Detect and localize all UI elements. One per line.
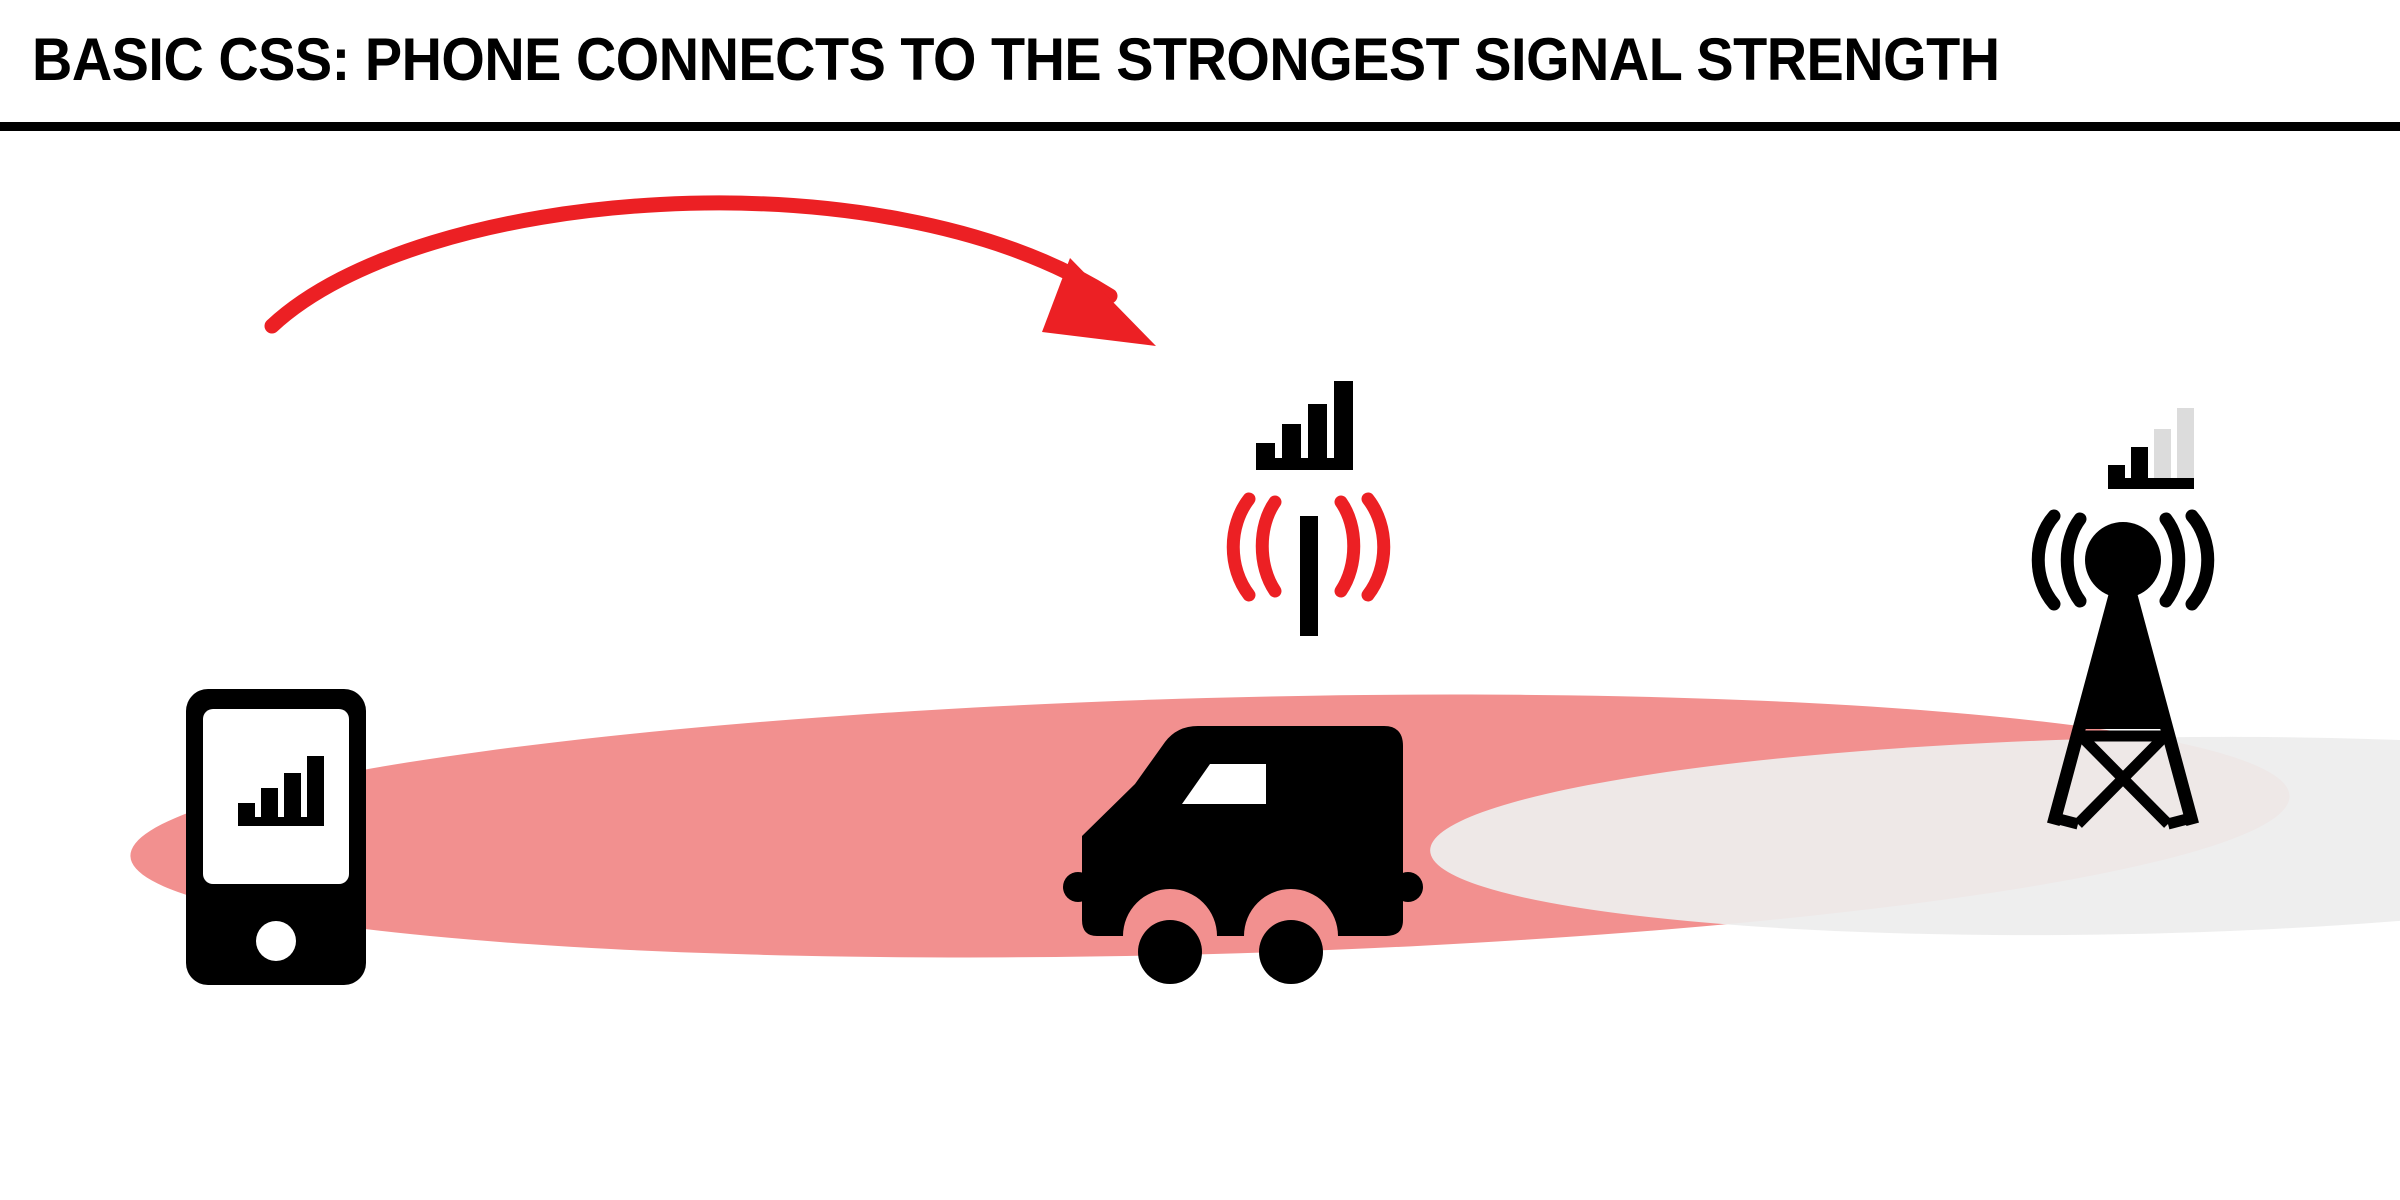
truck-signal-baseline bbox=[1256, 458, 1353, 470]
truck-signal-bar-3 bbox=[1308, 404, 1327, 466]
truck-signal-bar-4 bbox=[1334, 381, 1353, 466]
page-title: BASIC CSS: PHONE CONNECTS TO THE STRONGE… bbox=[32, 14, 2190, 106]
phone-signal-baseline bbox=[238, 817, 324, 826]
phone-signal-bar-4 bbox=[307, 756, 324, 822]
truck-front-bumper-nub bbox=[1063, 872, 1093, 902]
truck-wave-right-inner bbox=[1341, 502, 1354, 591]
truck-front-wheel bbox=[1138, 920, 1202, 984]
tower-brace-x4 bbox=[2168, 818, 2191, 824]
slide-header: BASIC CSS: PHONE CONNECTS TO THE STRONGE… bbox=[0, 0, 2400, 136]
phone-signal-bar-3 bbox=[284, 773, 301, 822]
phone-home-button bbox=[256, 921, 296, 961]
phone-signal-bar-2 bbox=[261, 788, 278, 822]
title-divider-rule bbox=[0, 122, 2400, 131]
tower-wave-right-outer bbox=[2192, 516, 2208, 604]
tower-wave-right-inner bbox=[2166, 519, 2179, 601]
tower-signal-bars-icon bbox=[2108, 408, 2194, 489]
truck-signal-bars-icon bbox=[1256, 381, 1353, 470]
tower-wave-left-outer bbox=[2038, 516, 2054, 604]
truck-wave-right-outer bbox=[1368, 499, 1384, 595]
truck-rear-bumper-nub bbox=[1393, 872, 1423, 902]
tower-brace-x3 bbox=[2055, 818, 2078, 824]
tower-signal-baseline bbox=[2108, 478, 2194, 489]
mobile-cell-truck[interactable] bbox=[1063, 381, 1423, 984]
tower-signal-bar-3 bbox=[2154, 429, 2171, 486]
truck-wave-left-inner bbox=[1262, 502, 1275, 591]
tower-signal-bar-4 bbox=[2177, 408, 2194, 486]
mobile-phone[interactable] bbox=[186, 689, 366, 985]
truck-antenna-mast bbox=[1300, 516, 1318, 636]
handover-arrow bbox=[272, 203, 1156, 346]
handover-arrow-curve bbox=[272, 203, 1110, 326]
truck-rear-wheel bbox=[1259, 920, 1323, 984]
tower-wave-left-inner bbox=[2067, 519, 2080, 601]
diagram-artwork bbox=[0, 136, 2400, 1200]
slide-canvas: BASIC CSS: PHONE CONNECTS TO THE STRONGE… bbox=[0, 0, 2400, 1200]
truck-wave-left-outer bbox=[1233, 499, 1249, 595]
